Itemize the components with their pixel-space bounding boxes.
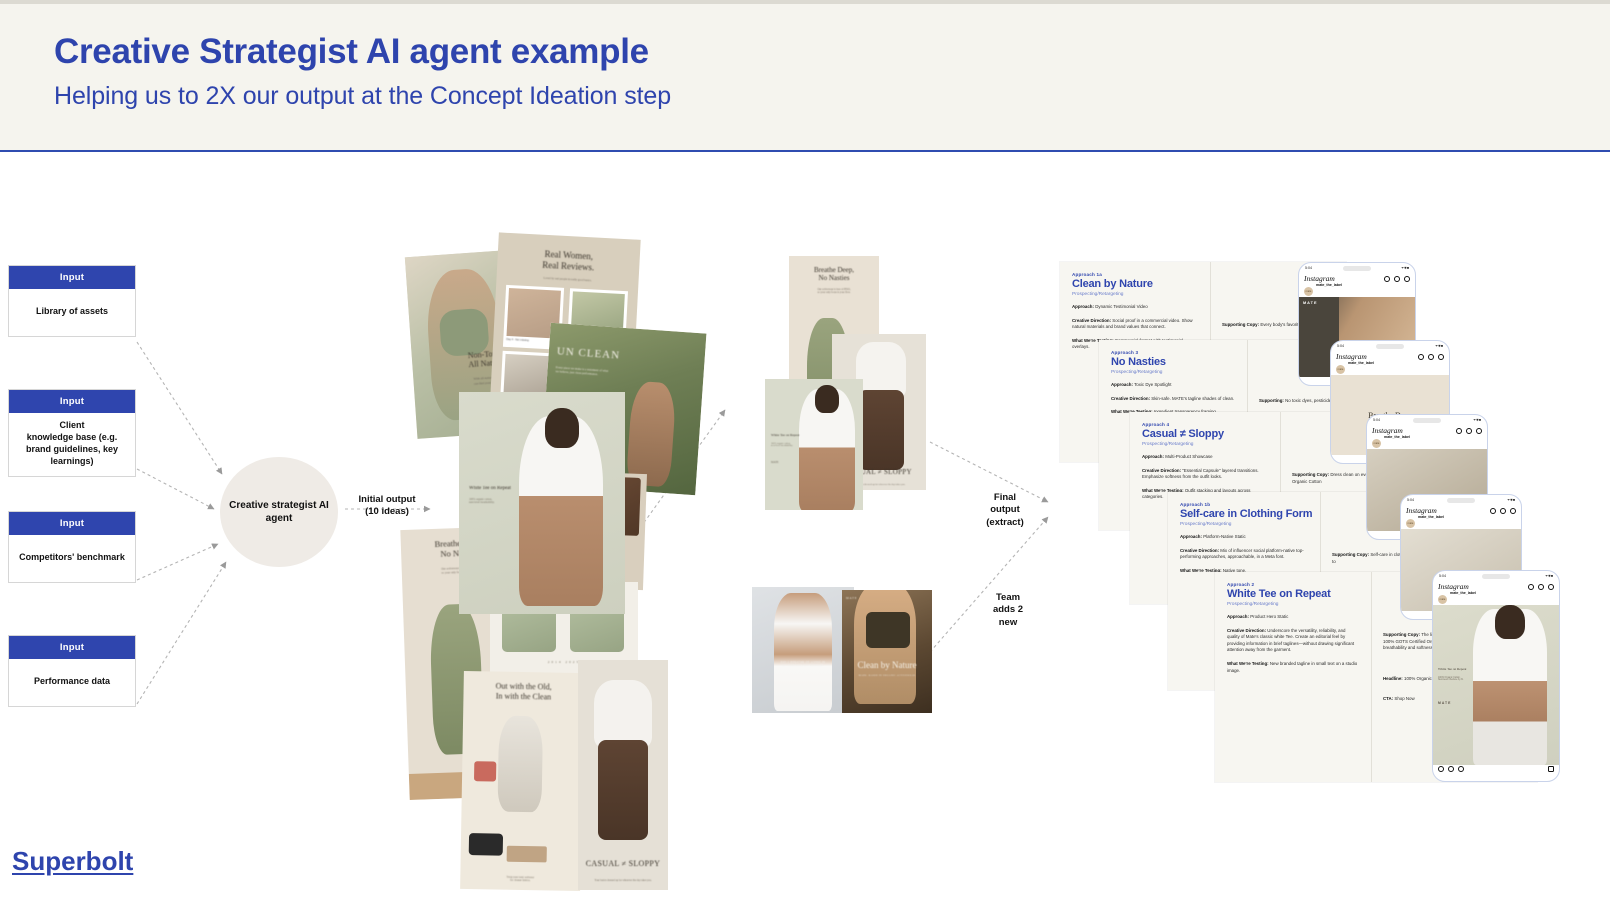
status-icons: ⏷☀■ — [1401, 266, 1409, 270]
post-username: mate_the_label — [1384, 435, 1410, 439]
approach-title: Clean by Nature — [1072, 278, 1334, 290]
flow-label-final-output: Final output (extract) — [965, 492, 1045, 529]
post-user-row[interactable]: mate mate_the_label Sponsored — [1433, 593, 1559, 605]
post-username: mate_the_label — [1348, 361, 1374, 365]
input-card-label: Competitors' benchmark — [9, 535, 135, 579]
status-time: 5:04 — [1407, 498, 1414, 502]
heart-icon[interactable] — [1538, 584, 1544, 590]
status-time: 5:04 — [1305, 266, 1312, 270]
collage-card-title: Clean by Nature — [842, 660, 932, 670]
approach-label: Approach: — [1180, 534, 1202, 539]
collage-card-title: Out with the Old, In with the Clean — [463, 681, 583, 702]
instagram-action-icons[interactable] — [1384, 276, 1410, 282]
collage-card-brand: MATE — [771, 461, 811, 464]
post-username: mate_the_label — [1450, 591, 1476, 595]
input-card-header: Input — [9, 636, 135, 659]
share-icon[interactable] — [1458, 766, 1464, 772]
approach-value: Platform-Native Static — [1203, 534, 1245, 539]
phone-notch — [1343, 266, 1371, 271]
flow-label-initial-output: Initial output (10 ideas) — [347, 494, 427, 519]
approach-value: Product Hero Static — [1250, 614, 1288, 619]
status-icons: ⏷☀■ — [1473, 418, 1481, 422]
post-action-bar[interactable] — [1433, 765, 1559, 773]
phone-mockup-5[interactable]: 5:04 ⏷☀■ Instagram mate mate_the_label S… — [1432, 570, 1560, 782]
testing-label: What We're Testing: — [1227, 661, 1269, 666]
status-time: 5:04 — [1439, 574, 1446, 578]
input-card-library-of-assets[interactable]: Input Library of assets — [8, 265, 136, 337]
page-title: Creative Strategist AI agent example — [54, 32, 649, 72]
avatar: mate — [1438, 595, 1447, 604]
heart-icon[interactable] — [1428, 354, 1434, 360]
input-card-header: Input — [9, 390, 135, 413]
input-card-client-knowledge-base[interactable]: Input Client knowledge base (e.g. brand … — [8, 389, 136, 477]
cta-label: CTA: — [1383, 696, 1393, 701]
status-bar: 5:04 ⏷☀■ — [1331, 341, 1449, 350]
collage-card-clean-by-nature[interactable]: MATE Clean by Nature MADE. BASED IN ORGA… — [842, 590, 932, 713]
status-icons: ⏷☀■ — [1435, 344, 1443, 348]
supporting-label: Supporting Copy: — [1332, 552, 1369, 557]
post-user-row[interactable]: mate mate_the_label Sponsored — [1367, 437, 1487, 449]
supporting-label: Supporting Copy: — [1222, 322, 1259, 327]
phone-notch — [1376, 344, 1404, 349]
avatar: mate — [1372, 439, 1381, 448]
avatar: mate — [1304, 287, 1313, 296]
messenger-icon[interactable] — [1510, 508, 1516, 514]
collage-card-body: Our activewear is free of PFAS, so your … — [789, 288, 879, 294]
collage-card-body: 100% organic cotton, next-level breathab… — [771, 443, 811, 447]
creative-label: Creative Direction: — [1142, 468, 1181, 473]
status-icons: ⏷☀■ — [1545, 574, 1553, 578]
creative-label: Creative Direction: — [1111, 396, 1150, 401]
collage-card-body: MADE. BASED IN ORGANIC ACTIVEWEAR — [842, 674, 932, 677]
comment-icon[interactable] — [1448, 766, 1454, 772]
approach-label: Approach: — [1142, 454, 1164, 459]
add-post-icon[interactable] — [1418, 354, 1424, 360]
supporting-label: Supporting Copy: — [1292, 472, 1329, 477]
post-user-row[interactable]: mate mate_the_label Sponsored — [1299, 285, 1415, 297]
heart-icon[interactable] — [1394, 276, 1400, 282]
avatar: mate — [1336, 365, 1345, 374]
instagram-action-icons[interactable] — [1418, 354, 1444, 360]
creative-value: Skin-safe. MATE's tagline shades of clea… — [1151, 396, 1234, 401]
status-bar: 5:04 ⏷☀■ — [1367, 415, 1487, 424]
heart-icon[interactable] — [1466, 428, 1472, 434]
messenger-icon[interactable] — [1548, 584, 1554, 590]
messenger-icon[interactable] — [1476, 428, 1482, 434]
header-top-rule — [0, 0, 1610, 4]
post-caption-title: White Tee on Repeat — [1438, 667, 1472, 671]
messenger-icon[interactable] — [1404, 276, 1410, 282]
messenger-icon[interactable] — [1438, 354, 1444, 360]
collage-card-title: CASUAL ≠ SLOPPY — [578, 859, 668, 868]
add-post-icon[interactable] — [1456, 428, 1462, 434]
status-icons: ⏷☀■ — [1507, 498, 1515, 502]
phone-notch — [1413, 418, 1441, 423]
approach-subtitle: Prospecting/Retargeting — [1072, 292, 1334, 297]
collage-card-out-with-old[interactable]: Out with the Old, In with the Clean Swap… — [460, 671, 584, 891]
agent-node-label: Creative strategist AI agent — [220, 499, 338, 526]
approach-label: Approach: — [1072, 304, 1094, 309]
phone-notch — [1482, 574, 1510, 579]
status-bar: 5:04 ⏷☀■ — [1401, 495, 1521, 504]
post-username: mate_the_label — [1316, 283, 1342, 287]
collage-card-white-tee-curated[interactable]: White Tee on Repeat 100% organic cotton,… — [765, 379, 863, 510]
add-post-icon[interactable] — [1490, 508, 1496, 514]
creative-label: Creative Direction: — [1180, 548, 1219, 553]
supporting-label: Supporting Copy: — [1383, 632, 1420, 637]
status-bar: 5:04 ⏷☀■ — [1299, 263, 1415, 272]
input-card-performance-data[interactable]: Input Performance data — [8, 635, 136, 707]
collage-card-brand: MATE — [846, 596, 876, 600]
collage-card-organic-activewear[interactable]: DAY 1 BREATHE OF LIVING IN MY ORGANIC AC… — [752, 587, 854, 713]
headline-label: Headline: — [1383, 676, 1403, 681]
cta-value: Shop Now — [1394, 696, 1414, 701]
creative-label: Creative Direction: — [1072, 318, 1111, 323]
collage-card-body: Swap your toxic softwear for cleaner fab… — [460, 875, 580, 883]
collage-card-body: 100% organic cotton, next-level breathab… — [469, 498, 535, 504]
instagram-action-icons[interactable] — [1528, 584, 1554, 590]
heart-icon[interactable] — [1500, 508, 1506, 514]
collage-card-body: Your basics dressed up for wherever the … — [578, 879, 668, 882]
input-card-label: Performance data — [9, 659, 135, 703]
collage-card-title: Breathe Deep, No Nasties — [789, 266, 879, 283]
footer-logo[interactable]: Superbolt — [12, 846, 133, 877]
post-user-row[interactable]: mate mate_the_label Sponsored — [1401, 517, 1521, 529]
add-post-icon[interactable] — [1384, 276, 1390, 282]
collage-card-body: DAY 1 BREATHE OF LIVING IN MY ORGANIC AC… — [752, 661, 854, 667]
status-time: 5:04 — [1337, 344, 1344, 348]
like-icon[interactable] — [1438, 766, 1444, 772]
approach-label: Approach: — [1111, 382, 1133, 387]
avatar: mate — [1406, 519, 1415, 528]
approach-value: Toxic Dye Spotlight — [1134, 382, 1171, 387]
save-icon[interactable] — [1548, 766, 1554, 772]
approach-value: Multi-Product Showcase — [1165, 454, 1212, 459]
flow-label-team-adds-new: Team adds 2 new — [968, 592, 1048, 629]
post-media: White Tee on Repeat 100% Organic Cotton.… — [1433, 605, 1559, 765]
instagram-action-icons[interactable] — [1456, 428, 1482, 434]
instagram-action-icons[interactable] — [1490, 508, 1516, 514]
add-post-icon[interactable] — [1528, 584, 1534, 590]
post-caption-body: 100% Organic Cotton. Next-level. Reduce … — [1438, 677, 1472, 681]
creative-label: Creative Direction: — [1227, 628, 1266, 633]
phone-notch — [1447, 498, 1475, 503]
slide-header: Creative Strategist AI agent example Hel… — [0, 0, 1610, 152]
approach-value: Dynamic Testimonial Video — [1095, 304, 1148, 309]
input-card-header: Input — [9, 512, 135, 535]
input-card-competitors-benchmark[interactable]: Input Competitors' benchmark — [8, 511, 136, 583]
collage-card-title: White Tee on Repeat — [469, 486, 535, 491]
diagram-canvas: Input Library of assets Input Client kno… — [0, 152, 1610, 908]
approach-label: Approach: — [1227, 614, 1249, 619]
agent-node[interactable]: Creative strategist AI agent — [220, 457, 338, 567]
post-user-row[interactable]: mate mate_the_label Sponsored — [1331, 363, 1449, 375]
input-card-label: Client knowledge base (e.g. brand guidel… — [9, 413, 135, 473]
brand-tag: MATE — [1438, 701, 1451, 705]
collage-card-title: Real Women, Real Reviews. — [497, 246, 640, 275]
brand-tag: MATE — [1303, 301, 1317, 305]
page-subtitle: Helping us to 2X our output at the Conce… — [54, 82, 671, 111]
collage-card-title: White Tee on Repeat — [771, 433, 811, 437]
collage-card-white-tee-initial[interactable]: White Tee on Repeat 100% organic cotton,… — [459, 392, 625, 614]
collage-card-casual-sloppy-initial[interactable]: CASUAL ≠ SLOPPY Your basics dressed up f… — [578, 660, 668, 890]
status-time: 5:04 — [1373, 418, 1380, 422]
collage-card-body: Loved by real people in really good basi… — [497, 274, 639, 284]
input-card-header: Input — [9, 266, 135, 289]
post-username: mate_the_label — [1418, 515, 1444, 519]
input-card-label: Library of assets — [9, 289, 135, 333]
approach-number: Approach 1a — [1072, 272, 1334, 277]
status-bar: 5:04 ⏷☀■ — [1433, 571, 1559, 580]
supporting-label: Supporting: — [1259, 398, 1284, 403]
